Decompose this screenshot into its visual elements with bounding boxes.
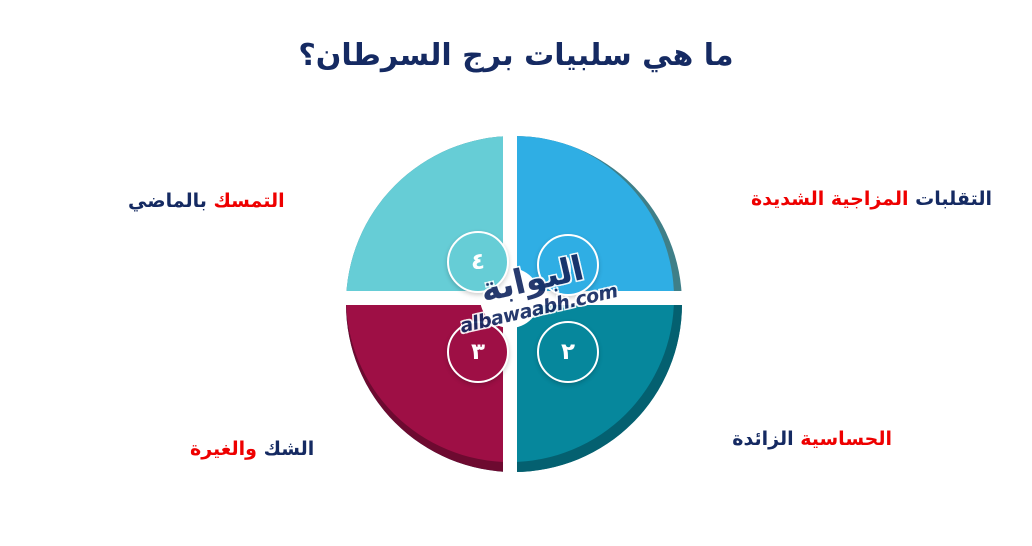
segment-bubble-4[interactable]: ٤ [447,231,509,293]
segment-label-2: الحساسية الزائدة [732,428,892,452]
segment-bubble-3-number: ٣ [471,341,485,364]
quadrant-bottom-right[interactable] [510,298,674,462]
segment-label-2-part-2: الزائدة [732,428,793,450]
segment-bubble-2-number: ٢ [561,341,575,364]
segment-label-4: التمسك بالماضي [128,190,285,214]
segment-bubble-1-number: ١ [561,254,575,277]
segment-label-2-part-1: الحساسية [800,428,892,450]
segment-label-3-part-2: والغيرة [190,438,257,460]
infographic-canvas: ما هي سلبيات برج السرطان؟ [0,0,1032,546]
segment-label-4-part-1: التمسك [213,190,284,212]
segment-label-4-part-2: بالماضي [128,190,207,212]
segment-label-1-part-2: المزاجية الشديدة [751,188,909,210]
segment-label-1: التقلبات المزاجية الشديدة [751,188,992,212]
segment-bubble-1[interactable]: ١ [537,234,599,296]
segment-label-1-part-1: التقلبات [915,188,992,210]
quadrant-wheel-svg [344,134,684,474]
segment-label-3: الشك والغيرة [190,438,314,462]
segment-label-3-part-1: الشك [264,438,315,460]
segment-bubble-4-number: ٤ [471,251,485,274]
segment-bubble-2[interactable]: ٢ [537,321,599,383]
quadrant-wheel [344,134,684,474]
page-title: ما هي سلبيات برج السرطان؟ [0,38,1032,73]
segment-bubble-3[interactable]: ٣ [447,321,509,383]
